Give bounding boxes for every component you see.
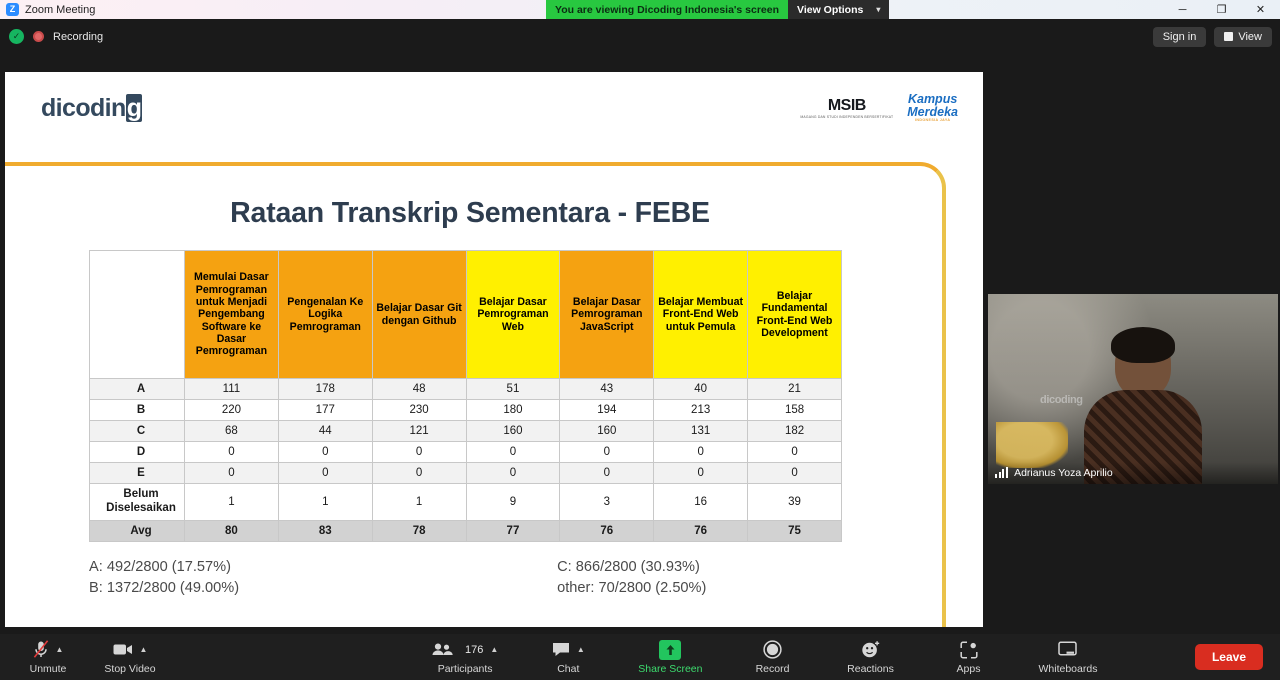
msib-logo: MSIB MAGANG DAN STUDI INDEPENDEN BERSERT… — [800, 97, 893, 119]
msib-wordmark: MSIB — [800, 97, 893, 115]
share-screen-icon — [659, 640, 681, 660]
reactions-button[interactable]: Reactions — [843, 635, 899, 679]
cell-c-4: 160 — [466, 421, 560, 442]
cell-avg-7: 75 — [748, 520, 842, 541]
network-signal-icon — [995, 468, 1008, 478]
stop-video-button[interactable]: ▲ Stop Video — [102, 635, 158, 679]
toolbar-left-group: ▲ Unmute ▲ Stop Video — [0, 635, 158, 679]
cell-avg-3: 78 — [372, 520, 466, 541]
unmute-button[interactable]: ▲ Unmute — [20, 635, 76, 679]
view-options-button[interactable]: View Options ▾ — [788, 0, 889, 19]
view-options-label: View Options — [797, 4, 863, 16]
column-header-2: Pengenalan Ke Logika Pemrograman — [278, 251, 372, 379]
partner-logos: MSIB MAGANG DAN STUDI INDEPENDEN BERSERT… — [800, 93, 958, 122]
cell-b-1: 220 — [185, 400, 279, 421]
cell-e-4: 0 — [466, 463, 560, 484]
cell-b-4: 180 — [466, 400, 560, 421]
summary-c: C: 866/2800 (30.93%) — [557, 557, 706, 578]
participants-label: Participants — [438, 663, 493, 675]
summary-b: B: 1372/2800 (49.00%) — [89, 578, 239, 599]
recording-indicator[interactable]: ✓ Recording — [0, 29, 103, 44]
table-header-row: Memulai Dasar Pemrograman untuk Menjadi … — [90, 251, 842, 379]
cell-e-2: 0 — [278, 463, 372, 484]
cell-c-2: 44 — [278, 421, 372, 442]
cell-d-1: 0 — [185, 442, 279, 463]
view-label: View — [1238, 31, 1262, 43]
cell-belum-1: 1 — [185, 484, 279, 521]
cell-a-5: 43 — [560, 379, 654, 400]
cell-a-2: 178 — [278, 379, 372, 400]
cell-c-6: 131 — [654, 421, 748, 442]
slide-header: dicoding MSIB MAGANG DAN STUDI INDEPENDE… — [5, 72, 983, 138]
column-header-5: Belajar Dasar Pemrograman JavaScript — [560, 251, 654, 379]
audio-options-chevron-icon[interactable]: ▲ — [56, 645, 64, 654]
cell-e-7: 0 — [748, 463, 842, 484]
whiteboards-label: Whiteboards — [1039, 663, 1098, 675]
sign-in-label: Sign in — [1163, 31, 1197, 43]
whiteboards-button[interactable]: Whiteboards — [1039, 635, 1098, 679]
column-header-1: Memulai Dasar Pemrograman untuk Menjadi … — [185, 251, 279, 379]
figure-hair — [1111, 327, 1175, 363]
participant-name-bar: Adrianus Yoza Aprilio — [988, 462, 1278, 484]
column-header-4: Belajar Dasar Pemrograman Web — [466, 251, 560, 379]
window-controls: ─ ❐ ✕ — [1163, 0, 1280, 19]
table-row: Belum Diselesaikan 1 1 1 9 3 16 39 — [90, 484, 842, 521]
view-button[interactable]: View — [1214, 27, 1272, 47]
kampus-merdeka-logo: Kampus Merdeka INDONESIA JAYA — [907, 93, 958, 122]
cell-e-1: 0 — [185, 463, 279, 484]
apps-icon — [960, 640, 978, 660]
cell-b-2: 177 — [278, 400, 372, 421]
toolbar-center-group: 176 ▲ Participants ▲ Chat S — [432, 635, 1097, 679]
table-row: E 0 0 0 0 0 0 0 — [90, 463, 842, 484]
window-title: Zoom Meeting — [25, 4, 95, 16]
column-header-3: Belajar Dasar Git dengan Github — [372, 251, 466, 379]
encryption-shield-icon[interactable]: ✓ — [9, 29, 24, 44]
cell-d-5: 0 — [560, 442, 654, 463]
table-row-average: Avg 80 83 78 77 76 76 75 — [90, 520, 842, 541]
row-label-a: A — [90, 379, 185, 400]
grades-table: Memulai Dasar Pemrograman untuk Menjadi … — [89, 250, 842, 542]
chat-icon: ▲ — [552, 640, 585, 660]
cell-belum-3: 1 — [372, 484, 466, 521]
cell-belum-2: 1 — [278, 484, 372, 521]
cell-b-3: 230 — [372, 400, 466, 421]
cell-b-5: 194 — [560, 400, 654, 421]
record-label: Record — [756, 663, 790, 675]
table-row: D 0 0 0 0 0 0 0 — [90, 442, 842, 463]
summary-other: other: 70/2800 (2.50%) — [557, 578, 706, 599]
reactions-label: Reactions — [847, 663, 894, 675]
cell-b-6: 213 — [654, 400, 748, 421]
cell-e-5: 0 — [560, 463, 654, 484]
msib-tagline: MAGANG DAN STUDI INDEPENDEN BERSERTIFIKA… — [800, 115, 893, 119]
record-dot-icon — [33, 31, 44, 42]
cell-d-6: 0 — [654, 442, 748, 463]
maximize-button[interactable]: ❐ — [1202, 0, 1241, 19]
cell-c-5: 160 — [560, 421, 654, 442]
cell-b-7: 158 — [748, 400, 842, 421]
record-button[interactable]: Record — [745, 635, 801, 679]
record-icon — [763, 640, 782, 660]
row-label-e: E — [90, 463, 185, 484]
cell-belum-6: 16 — [654, 484, 748, 521]
cell-belum-4: 9 — [466, 484, 560, 521]
self-view-thumbnail[interactable]: dicoding Adrianus Yoza Aprilio — [988, 294, 1278, 484]
close-button[interactable]: ✕ — [1241, 0, 1280, 19]
row-label-b: B — [90, 400, 185, 421]
row-label-d: D — [90, 442, 185, 463]
recording-label: Recording — [53, 31, 103, 43]
viewing-screen-label: You are viewing Dicoding Indonesia's scr… — [546, 0, 788, 19]
microphone-muted-icon: ▲ — [33, 640, 64, 660]
cell-d-4: 0 — [466, 442, 560, 463]
slide-title: Rataan Transkrip Sementara - FEBE — [5, 197, 935, 230]
cell-a-1: 111 — [185, 379, 279, 400]
cell-c-1: 68 — [185, 421, 279, 442]
share-screen-button[interactable]: Share Screen — [638, 635, 702, 679]
participants-count: 176 — [465, 644, 483, 656]
kampus-merdeka-line3: INDONESIA JAYA — [907, 119, 958, 123]
table-row: A 111 178 48 51 43 40 21 — [90, 379, 842, 400]
cell-e-6: 0 — [654, 463, 748, 484]
sign-in-button[interactable]: Sign in — [1153, 27, 1207, 47]
kampus-merdeka-line1: Kampus — [907, 93, 958, 106]
view-layout-icon — [1224, 32, 1233, 41]
chevron-down-icon: ▾ — [876, 5, 880, 14]
camera-icon: ▲ — [113, 640, 148, 660]
reactions-icon — [861, 640, 881, 660]
slide-accent-rule — [5, 162, 910, 166]
cell-avg-5: 76 — [560, 520, 654, 541]
cell-d-7: 0 — [748, 442, 842, 463]
meeting-header-bar: ✓ Recording Sign in View — [0, 19, 1280, 54]
zoom-logo-icon: Z — [6, 3, 19, 16]
participant-name: Adrianus Yoza Aprilio — [1014, 467, 1113, 479]
dicoding-logo: dicoding — [41, 94, 142, 123]
screen-share-banner: You are viewing Dicoding Indonesia's scr… — [546, 0, 889, 19]
cell-e-3: 0 — [372, 463, 466, 484]
summary-stats: A: 492/2800 (17.57%) B: 1372/2800 (49.00… — [89, 557, 849, 598]
chat-label: Chat — [557, 663, 579, 675]
cell-c-7: 182 — [748, 421, 842, 442]
row-label-belum: Belum Diselesaikan — [90, 484, 185, 521]
meeting-toolbar: ▲ Unmute ▲ Stop Video — [0, 634, 1280, 680]
apps-label: Apps — [957, 663, 981, 675]
unmute-label: Unmute — [30, 663, 67, 675]
cell-d-2: 0 — [278, 442, 372, 463]
kampus-merdeka-line2: Merdeka — [907, 106, 958, 119]
leave-button[interactable]: Leave — [1195, 644, 1263, 670]
dicoding-wordmark: dicodin — [41, 94, 126, 122]
participants-icon: 176 ▲ — [432, 640, 498, 660]
table-row: B 220 177 230 180 194 213 158 — [90, 400, 842, 421]
summary-left-column: A: 492/2800 (17.57%) B: 1372/2800 (49.00… — [89, 557, 239, 598]
cell-c-3: 121 — [372, 421, 466, 442]
summary-a: A: 492/2800 (17.57%) — [89, 557, 239, 578]
whiteboard-icon — [1058, 640, 1077, 660]
dicoding-logo-mark: g — [126, 94, 143, 122]
participants-button[interactable]: 176 ▲ Participants — [432, 635, 498, 679]
cell-a-4: 51 — [466, 379, 560, 400]
wall-dicoding-logo: dicoding — [1040, 394, 1083, 406]
video-options-chevron-icon[interactable]: ▲ — [140, 645, 148, 654]
summary-right-column: C: 866/2800 (30.93%) other: 70/2800 (2.5… — [399, 557, 706, 598]
minimize-button[interactable]: ─ — [1163, 0, 1202, 19]
row-label-avg: Avg — [90, 520, 185, 541]
chat-chevron-icon[interactable]: ▲ — [577, 645, 585, 654]
table-corner-cell — [90, 251, 185, 379]
cell-a-6: 40 — [654, 379, 748, 400]
cell-a-7: 21 — [748, 379, 842, 400]
participants-chevron-icon[interactable]: ▲ — [490, 645, 498, 654]
header-right-controls: Sign in View — [1153, 27, 1272, 47]
cell-belum-7: 39 — [748, 484, 842, 521]
shared-screen-stage: dicoding MSIB MAGANG DAN STUDI INDEPENDE… — [0, 54, 1280, 634]
column-header-7: Belajar Fundamental Front-End Web Develo… — [748, 251, 842, 379]
cell-avg-6: 76 — [654, 520, 748, 541]
cell-a-3: 48 — [372, 379, 466, 400]
slide-accent-vertical — [942, 202, 946, 627]
share-screen-label: Share Screen — [638, 663, 702, 675]
window-title-bar: Z Zoom Meeting You are viewing Dicoding … — [0, 0, 1280, 19]
column-header-6: Belajar Membuat Front-End Web untuk Pemu… — [654, 251, 748, 379]
stop-video-label: Stop Video — [104, 663, 155, 675]
apps-button[interactable]: Apps — [941, 635, 997, 679]
presentation-slide: dicoding MSIB MAGANG DAN STUDI INDEPENDE… — [5, 72, 983, 627]
cell-d-3: 0 — [372, 442, 466, 463]
chat-button[interactable]: ▲ Chat — [540, 635, 596, 679]
share-screen-box — [659, 640, 681, 660]
cell-belum-5: 3 — [560, 484, 654, 521]
row-label-c: C — [90, 421, 185, 442]
cell-avg-1: 80 — [185, 520, 279, 541]
cell-avg-4: 77 — [466, 520, 560, 541]
title-bar-left: Z Zoom Meeting — [0, 3, 95, 16]
table-row: C 68 44 121 160 160 131 182 — [90, 421, 842, 442]
cell-avg-2: 83 — [278, 520, 372, 541]
